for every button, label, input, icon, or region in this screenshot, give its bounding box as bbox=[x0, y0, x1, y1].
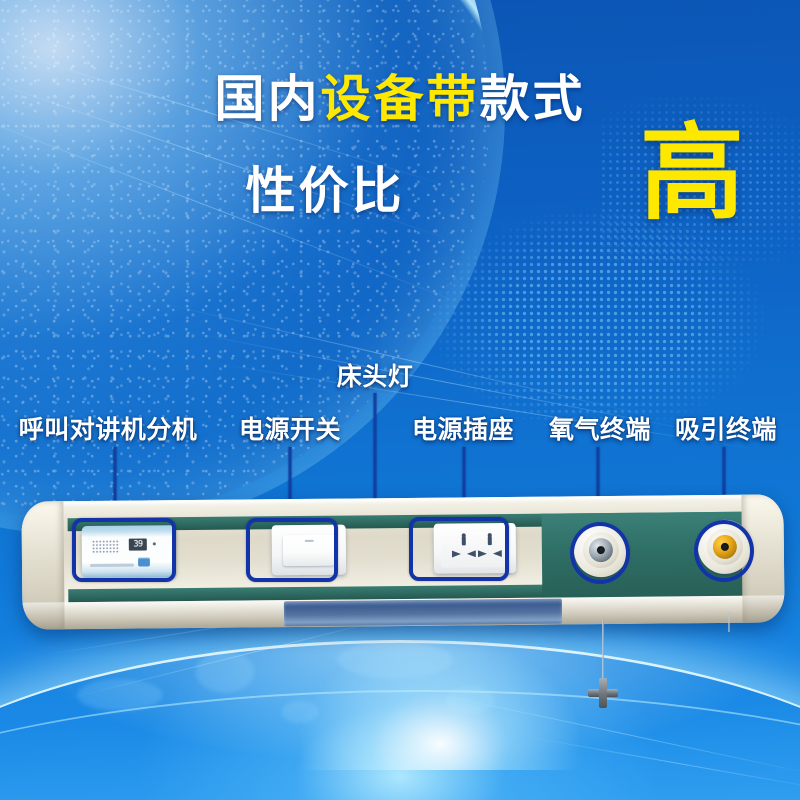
callout-label-3: 电源插座 bbox=[412, 410, 514, 446]
highlight-box-socket bbox=[409, 517, 509, 581]
callout-label-4: 氧气终端 bbox=[549, 410, 651, 446]
promo-banner: 国内设备带款式 性价比 高 呼叫对讲机分机电源开关床头灯电源插座氧气终端吸引终端… bbox=[0, 0, 800, 800]
bed-lamp-light-bar[interactable] bbox=[284, 599, 562, 627]
highlight-circle-suction bbox=[694, 520, 754, 582]
highlight-circle-oxygen bbox=[570, 522, 630, 584]
cord-hook-icon[interactable] bbox=[588, 678, 618, 708]
callout-labels: 呼叫对讲机分机电源开关床头灯电源插座氧气终端吸引终端 bbox=[0, 0, 800, 800]
callout-label-0: 呼叫对讲机分机 bbox=[19, 410, 198, 446]
callout-label-2: 床头灯 bbox=[337, 357, 414, 393]
pull-cord[interactable] bbox=[602, 620, 604, 686]
highlight-box-switch bbox=[246, 518, 338, 582]
callout-label-1: 电源开关 bbox=[239, 410, 341, 446]
highlight-box-intercom bbox=[72, 518, 176, 582]
callout-label-5: 吸引终端 bbox=[675, 410, 777, 446]
pull-cord-secondary[interactable] bbox=[728, 612, 730, 632]
